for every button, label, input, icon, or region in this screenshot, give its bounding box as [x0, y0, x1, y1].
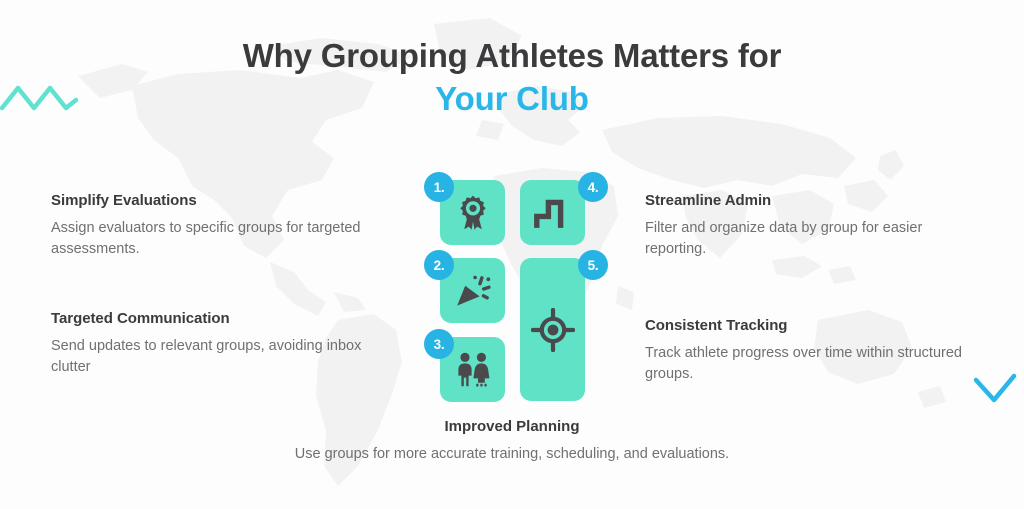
page-title-line-2: Your Club: [0, 79, 1024, 119]
feature-heading-simplify-evaluations: Simplify Evaluations: [51, 192, 381, 209]
feature-body-simplify-evaluations: Assign evaluators to specific groups for…: [51, 218, 381, 261]
card-number-badge-1: 1.: [424, 172, 454, 202]
steps-chart-icon: [534, 198, 572, 228]
infographic-canvas: Why Grouping Athletes Matters for Your C…: [0, 0, 1024, 509]
icon-card-target[interactable]: [520, 258, 585, 401]
card-number-badge-5: 5.: [578, 250, 608, 280]
feature-body-targeted-communication: Send updates to relevant groups, avoidin…: [51, 336, 401, 379]
feature-heading-targeted-communication: Targeted Communication: [51, 310, 401, 327]
icon-card-steps-chart[interactable]: [520, 180, 585, 245]
feature-body-improved-planning: Use groups for more accurate training, s…: [0, 444, 1024, 465]
page-title: Why Grouping Athletes Matters for Your C…: [0, 36, 1024, 120]
party-popper-icon: [455, 274, 491, 308]
chevron-down-icon: [972, 372, 1018, 408]
feature-heading-improved-planning: Improved Planning: [0, 418, 1024, 435]
icon-card-cluster: 1. 2. 3. 4. 5.: [418, 168, 608, 413]
feature-body-consistent-tracking: Track athlete progress over time within …: [645, 343, 975, 386]
page-title-line-1: Why Grouping Athletes Matters for: [0, 36, 1024, 76]
feature-body-streamline-admin: Filter and organize data by group for ea…: [645, 218, 965, 261]
feature-heading-consistent-tracking: Consistent Tracking: [645, 317, 975, 334]
feature-block-targeted-communication: Targeted Communication Send updates to r…: [51, 310, 401, 379]
feature-block-consistent-tracking: Consistent Tracking Track athlete progre…: [645, 317, 975, 386]
feature-block-improved-planning: Improved Planning Use groups for more ac…: [0, 418, 1024, 465]
target-crosshair-icon: [531, 308, 575, 352]
card-number-badge-4: 4.: [578, 172, 608, 202]
feature-heading-streamline-admin: Streamline Admin: [645, 192, 965, 209]
feature-block-streamline-admin: Streamline Admin Filter and organize dat…: [645, 192, 965, 261]
award-ribbon-icon: [456, 195, 490, 231]
feature-block-simplify-evaluations: Simplify Evaluations Assign evaluators t…: [51, 192, 381, 261]
two-people-icon: [454, 352, 492, 388]
card-number-badge-3: 3.: [424, 329, 454, 359]
card-number-badge-2: 2.: [424, 250, 454, 280]
